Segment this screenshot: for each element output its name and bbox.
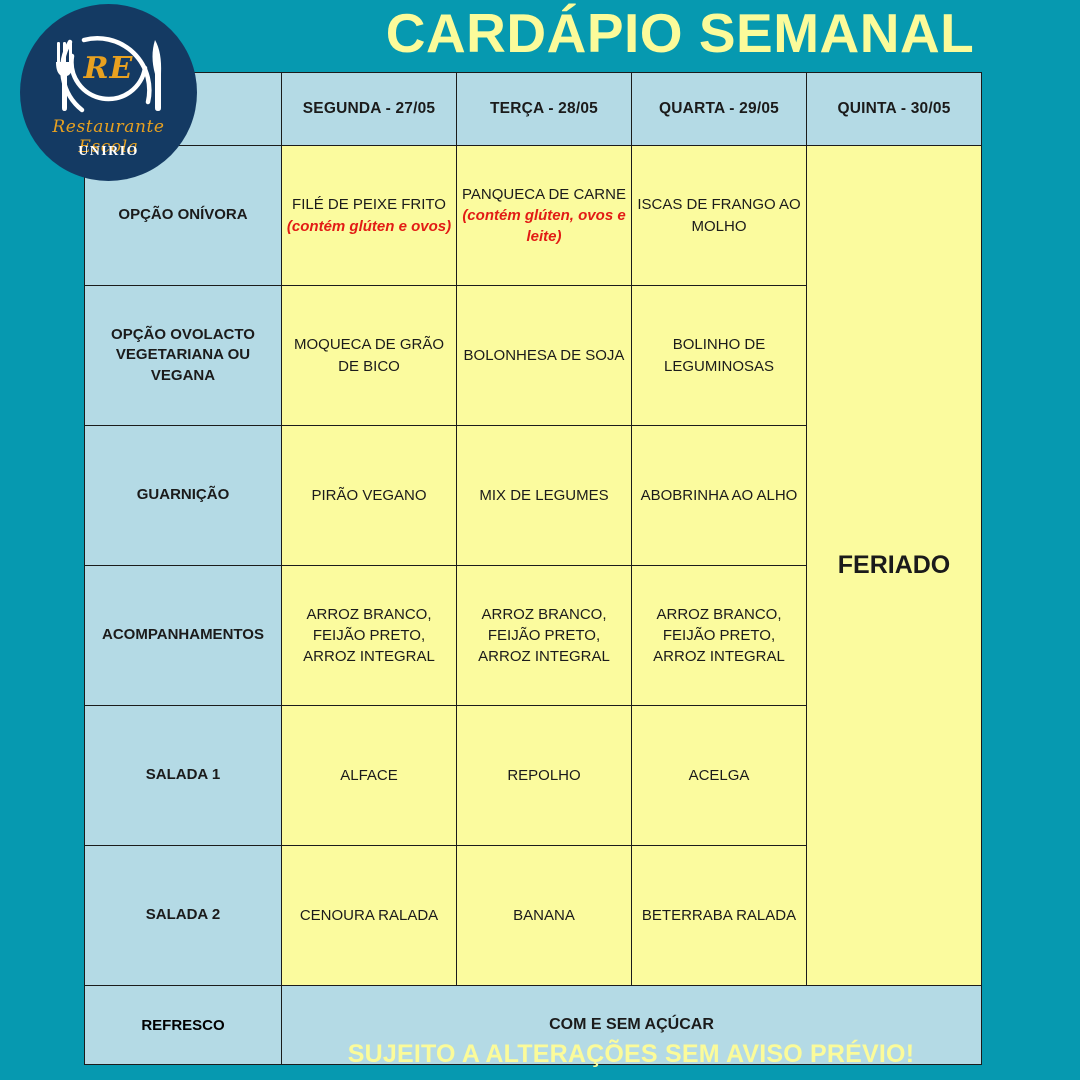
dish-name: ISCAS DE FRANGO AO MOLHO	[637, 196, 800, 234]
column-header-quarta: QUARTA - 29/05	[632, 73, 807, 146]
row-label-salada-1: SALADA 1	[85, 706, 282, 846]
table-row: OPÇÃO ONÍVORA FILÉ DE PEIXE FRITO (conté…	[85, 146, 982, 286]
cell-guarnicao-quarta: ABOBRINHA AO ALHO	[632, 426, 807, 566]
column-header-segunda: SEGUNDA - 27/05	[282, 73, 457, 146]
row-label-salada-2: SALADA 2	[85, 846, 282, 986]
cell-acompanhamentos-segunda: ARROZ BRANCO, FEIJÃO PRETO, ARROZ INTEGR…	[282, 566, 457, 706]
logo-monogram: RE	[20, 51, 197, 86]
logo-institution: UNIRIO	[20, 144, 197, 160]
row-label-opcao-vegetariana: OPÇÃO OVOLACTO VEGETARIANA OU VEGANA	[85, 286, 282, 426]
cell-acompanhamentos-quarta: ARROZ BRANCO, FEIJÃO PRETO, ARROZ INTEGR…	[632, 566, 807, 706]
footer-bar: SUJEITO A ALTERAÇÕES SEM AVISO PRÉVIO!	[281, 1030, 981, 1078]
weekly-menu-table: SEGUNDA - 27/05 TERÇA - 28/05 QUARTA - 2…	[84, 72, 982, 1065]
row-label-refresco: REFRESCO	[85, 986, 282, 1065]
cell-vegetariana-quarta: BOLINHO DE LEGUMINOSAS	[632, 286, 807, 426]
footer-note: SUJEITO A ALTERAÇÕES SEM AVISO PRÉVIO!	[348, 1040, 914, 1069]
restaurant-logo: RE Restaurante Escola UNIRIO	[20, 4, 197, 181]
allergen-note: (contém glúten, ovos e leite)	[461, 205, 627, 248]
cell-guarnicao-terca: MIX DE LEGUMES	[457, 426, 632, 566]
cell-salada1-quarta: ACELGA	[632, 706, 807, 846]
cell-salada1-terca: REPOLHO	[457, 706, 632, 846]
cell-onivora-segunda: FILÉ DE PEIXE FRITO (contém glúten e ovo…	[282, 146, 457, 286]
page-title-bar: CARDÁPIO SEMANAL	[280, 0, 1080, 70]
cell-salada1-segunda: ALFACE	[282, 706, 457, 846]
holiday-cell-quinta: FERIADO	[807, 146, 982, 986]
cell-salada2-terca: BANANA	[457, 846, 632, 986]
cell-acompanhamentos-terca: ARROZ BRANCO, FEIJÃO PRETO, ARROZ INTEGR…	[457, 566, 632, 706]
cell-onivora-terca: PANQUECA DE CARNE (contém glúten, ovos e…	[457, 146, 632, 286]
cell-vegetariana-segunda: MOQUECA DE GRÃO DE BICO	[282, 286, 457, 426]
cell-onivora-quarta: ISCAS DE FRANGO AO MOLHO	[632, 146, 807, 286]
page-title: CARDÁPIO SEMANAL	[386, 6, 975, 61]
cell-salada2-quarta: BETERRABA RALADA	[632, 846, 807, 986]
cell-guarnicao-segunda: PIRÃO VEGANO	[282, 426, 457, 566]
dish-name: FILÉ DE PEIXE FRITO	[292, 196, 446, 213]
column-header-quinta: QUINTA - 30/05	[807, 73, 982, 146]
cell-salada2-segunda: CENOURA RALADA	[282, 846, 457, 986]
row-label-guarnicao: GUARNIÇÃO	[85, 426, 282, 566]
dish-name: PANQUECA DE CARNE	[462, 186, 626, 203]
column-header-terca: TERÇA - 28/05	[457, 73, 632, 146]
row-label-acompanhamentos: ACOMPANHAMENTOS	[85, 566, 282, 706]
allergen-note: (contém glúten e ovos)	[286, 216, 452, 237]
cell-vegetariana-terca: BOLONHESA DE SOJA	[457, 286, 632, 426]
table-header-row: SEGUNDA - 27/05 TERÇA - 28/05 QUARTA - 2…	[85, 73, 982, 146]
